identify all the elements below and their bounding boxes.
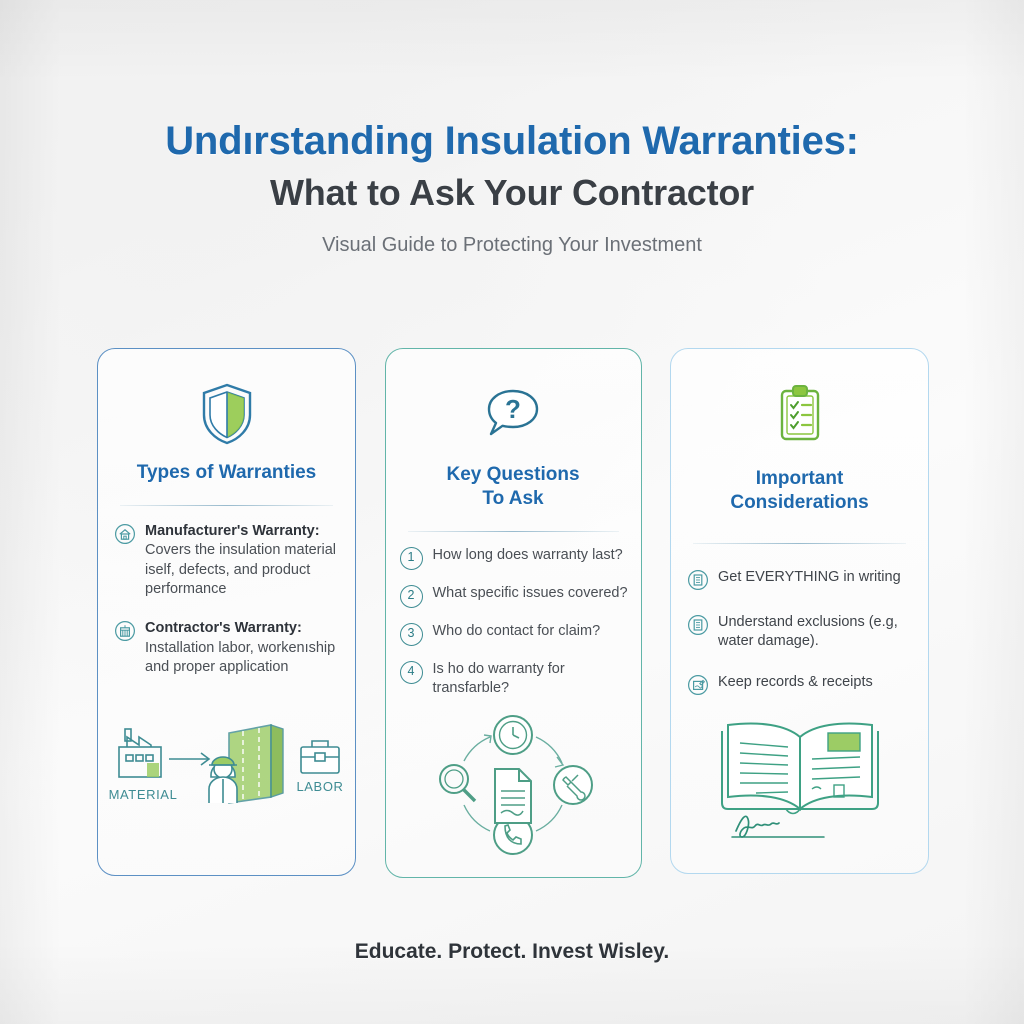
cards-row: Types of Warranties Manufacturer's Warra… <box>97 348 929 878</box>
building-icon <box>114 620 136 642</box>
card-important-considerations: Important Considerations Ge <box>670 348 929 874</box>
list-item-heading: Manufacturer's Warranty: <box>145 523 320 539</box>
list-item-body: Installation labor, workenıship and prop… <box>145 640 335 675</box>
infographic-poster: Undırstanding Insulation Warranties: Wha… <box>0 0 1024 1024</box>
labor-label: LABOR <box>296 779 343 794</box>
question-number: 1 <box>400 547 423 570</box>
list-item: 4 Is ho do warranty for transfarble? <box>400 660 629 699</box>
card-divider <box>408 531 619 532</box>
card-key-questions: ? Key Questions To Ask 1 How long does w… <box>385 348 642 878</box>
card-title: Key Questions To Ask <box>386 463 641 511</box>
page-title-line-1: Undırstanding Insulation Warranties: <box>0 120 1024 162</box>
list-item-body: Covers the insulation material iself, de… <box>145 542 336 597</box>
list-item: 2 What specific issues covered? <box>400 584 629 608</box>
material-label: MATERIAL <box>108 787 177 802</box>
footer-tagline: Educate. Protect. Invest Wisley. <box>0 940 1024 964</box>
list-item-body: Keep records & receipts <box>718 673 873 692</box>
considerations-list: Get EVERYTHING in writing Understand exc… <box>687 568 912 697</box>
poster-header: Undırstanding Insulation Warranties: Wha… <box>0 120 1024 257</box>
key-questions-list: 1 How long does warranty last? 2 What sp… <box>400 546 629 699</box>
list-item: Manufacturer's Warranty: Covers the insu… <box>114 522 339 600</box>
card-title-line-2: To Ask <box>400 487 627 511</box>
toolbox-icon <box>301 741 339 773</box>
document-icon <box>687 614 709 636</box>
home-icon <box>114 523 136 545</box>
material-to-labor-diagram: MATERIAL LABOR <box>98 703 355 813</box>
document-icon <box>687 569 709 591</box>
list-item-text: Manufacturer's Warranty: Covers the insu… <box>145 522 339 600</box>
card-divider <box>693 543 906 544</box>
card-types-of-warranties: Types of Warranties Manufacturer's Warra… <box>97 348 356 876</box>
question-text: Who do contact for claim? <box>433 622 601 641</box>
warranty-claim-cycle-diagram <box>386 709 641 859</box>
list-item: Contractor's Warranty: Installation labo… <box>114 619 339 677</box>
open-book-icon <box>720 724 878 814</box>
list-item: Keep records & receipts <box>687 673 912 696</box>
list-item: Understand exclusions (e.g, water damage… <box>687 613 912 652</box>
shield-icon-wrap <box>98 371 355 457</box>
list-item-body: Get EVERYTHING in writing <box>718 568 901 587</box>
list-item-text: Contractor's Warranty: Installation labo… <box>145 619 339 677</box>
svg-text:?: ? <box>505 394 521 424</box>
clipboard-checklist-icon-wrap <box>671 371 928 457</box>
clipboard-checklist-icon <box>775 383 825 445</box>
card-title-line-1: Important <box>685 467 914 491</box>
page-title-line-2: What to Ask Your Contractor <box>0 174 1024 212</box>
signature-icon <box>732 816 824 837</box>
question-number: 4 <box>400 661 423 684</box>
question-bubble-icon-wrap: ? <box>386 371 641 457</box>
question-text: How long does warranty last? <box>433 546 623 565</box>
question-text: What specific issues covered? <box>433 584 628 603</box>
page-subtitle: Visual Guide to Protecting Your Investme… <box>0 234 1024 257</box>
list-item: 3 Who do contact for claim? <box>400 622 629 646</box>
list-item: Get EVERYTHING in writing <box>687 568 912 591</box>
question-number: 3 <box>400 623 423 646</box>
card-title-line-2: Considerations <box>685 491 914 515</box>
list-item: 1 How long does warranty last? <box>400 546 629 570</box>
list-item-heading: Contractor's Warranty: <box>145 620 302 636</box>
shield-icon <box>198 381 256 447</box>
list-item-body: Understand exclusions (e.g, water damage… <box>718 613 912 652</box>
question-text: Is ho do warranty for transfarble? <box>433 660 629 699</box>
worker-icon <box>209 757 237 803</box>
magnifier-icon <box>440 765 475 801</box>
card-title: Important Considerations <box>671 467 928 515</box>
card-title-line-1: Key Questions <box>400 463 627 487</box>
signed-document-icon <box>687 674 709 696</box>
card-title: Types of Warranties <box>98 461 355 485</box>
document-icon <box>495 769 531 823</box>
clock-icon <box>494 716 532 754</box>
open-book-with-signature <box>671 703 928 843</box>
question-bubble-icon: ? <box>482 383 544 445</box>
warranty-types-list: Manufacturer's Warranty: Covers the insu… <box>114 522 339 678</box>
card-divider <box>120 505 333 506</box>
wrench-icon <box>554 766 592 804</box>
question-number: 2 <box>400 585 423 608</box>
arrow-right-icon <box>169 753 209 765</box>
